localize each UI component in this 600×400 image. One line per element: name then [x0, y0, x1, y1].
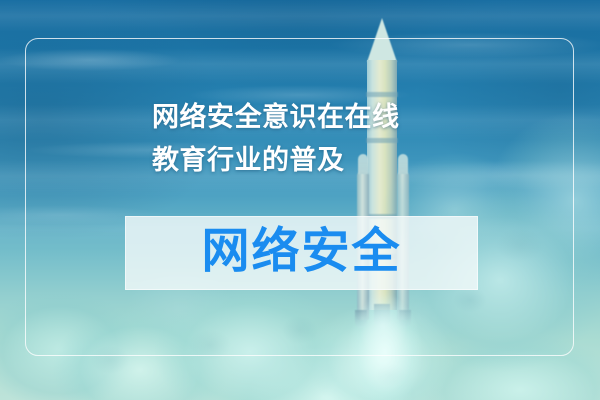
rocket-nozzle: [399, 310, 411, 328]
smoke-texture: [0, 0, 600, 400]
headline-box: 网络安全: [125, 216, 478, 290]
engine-plume: [0, 0, 600, 400]
cloud-wisps: [0, 0, 600, 400]
rocket-nozzle: [355, 310, 367, 328]
poster-banner: 网络安全意识在在线 教育行业的普及 网络安全: [0, 0, 600, 400]
rocket-nose-cone: [367, 18, 397, 62]
headline-text: 网络安全: [201, 228, 401, 278]
cloud-streaks: [0, 0, 600, 400]
rocket-nozzle: [374, 304, 390, 328]
sky-background: [0, 0, 600, 400]
sky-depth-shading: [0, 0, 600, 400]
decorative-frame: [25, 38, 574, 356]
exhaust-smoke-clouds: [0, 0, 600, 400]
page-title: 网络安全意识在在线 教育行业的普及: [152, 96, 482, 182]
